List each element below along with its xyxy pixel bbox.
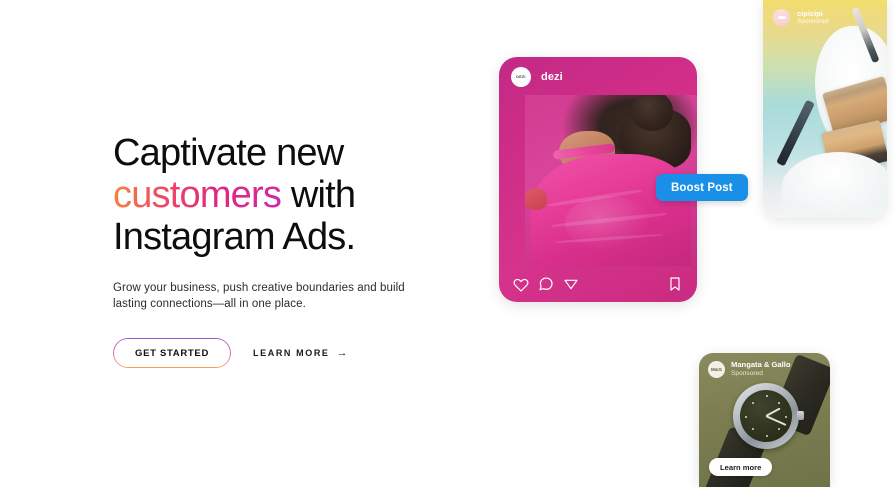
bookmark-icon[interactable] [667, 276, 683, 292]
cipicipi-username: cipicipi [797, 10, 828, 18]
headline-gradient-word: customers [113, 174, 281, 216]
page-title: Captivate new customers with Instagram A… [113, 132, 473, 258]
cipicipi-sponsored-label: Sponsored [797, 18, 828, 25]
mangata-sponsored-label: Sponsored [731, 370, 791, 378]
arrow-right-icon: → [337, 347, 348, 359]
hero-section: Captivate new customers with Instagram A… [0, 0, 895, 487]
dezi-header: DEZI dezi [511, 67, 563, 87]
headline-line-1: Captivate new [113, 132, 473, 174]
learn-more-label: LEARN MORE [253, 348, 330, 358]
avatar: M&G [708, 361, 725, 378]
avatar: DEZI [511, 67, 531, 87]
boost-post-button[interactable]: Boost Post [656, 174, 748, 201]
like-icon[interactable] [513, 276, 529, 292]
learn-more-link[interactable]: LEARN MORE → [253, 347, 348, 359]
comment-icon[interactable] [538, 276, 554, 292]
avatar [773, 9, 790, 26]
get-started-button[interactable]: GET STARTED [113, 338, 231, 368]
mangata-username: Mangata & Gallo [731, 361, 791, 370]
cipicipi-product-image [763, 0, 887, 218]
dezi-action-bar [499, 266, 697, 302]
headline-line-2-rest: with [281, 174, 355, 216]
headline-line-2: customers with [113, 174, 473, 216]
mangata-learn-more-button[interactable]: Learn more [709, 458, 772, 476]
mangata-header: M&G Mangata & Gallo Sponsored [708, 361, 791, 378]
headline-line-3: Instagram Ads. [113, 216, 473, 258]
hero-subcopy: Grow your business, push creative bounda… [113, 280, 423, 312]
hero-copy-block: Captivate new customers with Instagram A… [113, 132, 473, 368]
cipicipi-header: cipicipi Sponsored [773, 9, 828, 26]
cta-row: GET STARTED LEARN MORE → [113, 338, 473, 368]
share-icon[interactable] [563, 276, 579, 292]
ad-card-mangata[interactable]: M&G Mangata & Gallo Sponsored Learn more [699, 353, 830, 487]
dezi-username: dezi [541, 71, 563, 83]
ad-card-cipicipi[interactable]: cipicipi Sponsored [763, 0, 887, 218]
